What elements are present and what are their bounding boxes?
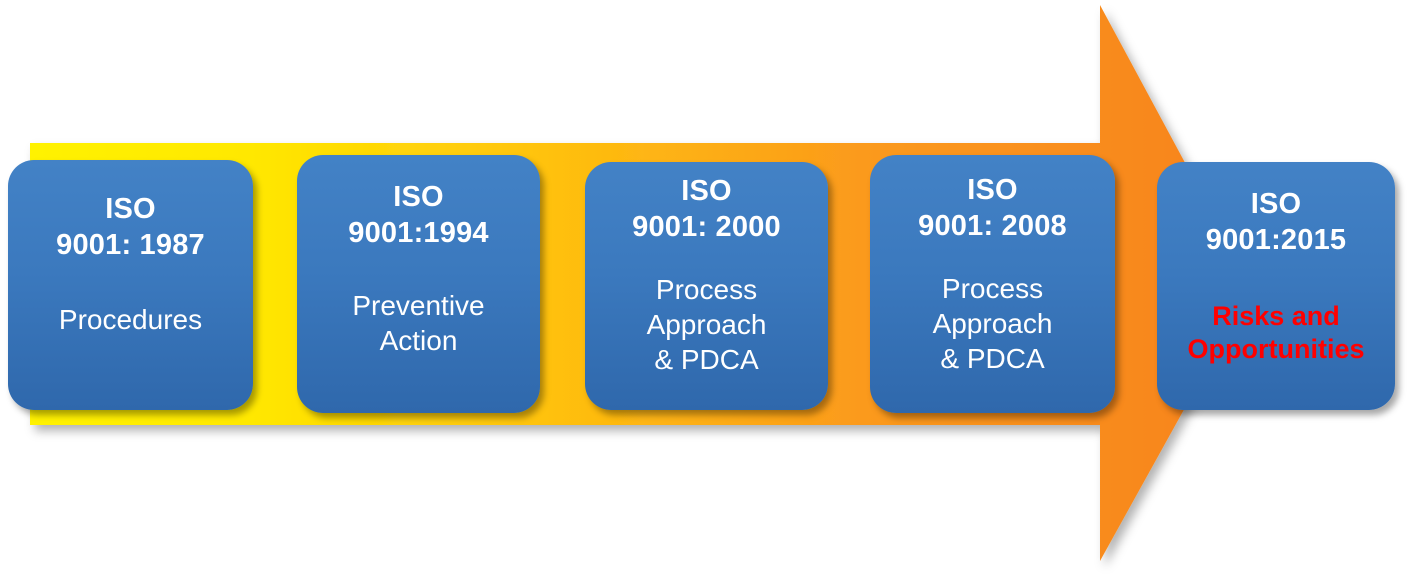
stage-box-iso-9001-1994[interactable]: ISO 9001:1994 Preventive Action <box>297 155 540 413</box>
stage-title: ISO 9001: 2000 <box>632 174 781 245</box>
stage-box-iso-9001-2000[interactable]: ISO 9001: 2000 Process Approach & PDCA <box>585 162 828 410</box>
stage-subtitle: Process Approach & PDCA <box>647 273 767 377</box>
stage-title: ISO 9001:1994 <box>348 180 489 251</box>
stage-subtitle: Procedures <box>59 303 202 338</box>
stage-box-iso-9001-2008[interactable]: ISO 9001: 2008 Process Approach & PDCA <box>870 155 1115 413</box>
stage-subtitle-accent: Risks and Opportunities <box>1188 300 1365 366</box>
stage-subtitle: Process Approach & PDCA <box>933 272 1053 376</box>
stage-box-iso-9001-2015[interactable]: ISO 9001:2015 Risks and Opportunities <box>1157 162 1395 410</box>
stage-title: ISO 9001: 2008 <box>918 173 1067 244</box>
stage-subtitle: Preventive Action <box>352 289 484 358</box>
stage-box-iso-9001-1987[interactable]: ISO 9001: 1987 Procedures <box>8 160 253 410</box>
stage-title: ISO 9001: 1987 <box>56 192 205 263</box>
diagram-canvas: ISO 9001: 1987 Procedures ISO 9001:1994 … <box>0 0 1409 575</box>
stage-title: ISO 9001:2015 <box>1206 187 1347 258</box>
